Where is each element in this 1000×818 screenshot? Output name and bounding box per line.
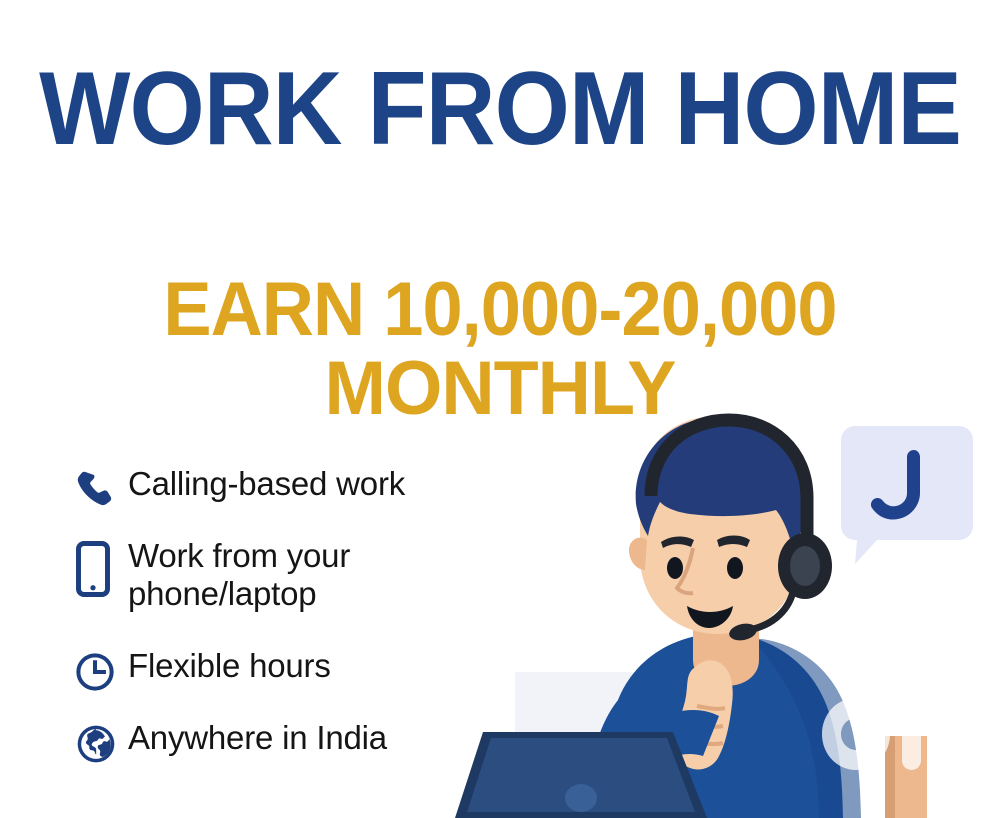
list-item: Calling-based work bbox=[74, 462, 544, 518]
page-title: WORK FROM HOME bbox=[35, 56, 965, 162]
list-item: Work from your phone/laptop bbox=[74, 534, 544, 626]
speech-bubble bbox=[841, 426, 973, 564]
earnings-period: MONTHLY bbox=[15, 348, 985, 430]
list-item-label: Anywhere in India bbox=[128, 716, 387, 757]
olx-watermark bbox=[818, 688, 986, 780]
earnings-block: EARN 10,000-20,000 MONTHLY bbox=[0, 272, 1000, 430]
list-item-label: Calling-based work bbox=[128, 462, 405, 503]
smartphone-icon bbox=[74, 534, 128, 626]
list-item-label: Flexible hours bbox=[128, 644, 331, 685]
list-item: Anywhere in India bbox=[74, 716, 544, 772]
list-item-label: Work from your phone/laptop bbox=[128, 534, 350, 612]
globe-icon bbox=[74, 716, 128, 772]
earnings-amount: EARN 10,000-20,000 bbox=[25, 272, 975, 348]
list-item-label-line1: Work from your bbox=[128, 537, 350, 574]
work-from-home-poster: WORK FROM HOME EARN 10,000-20,000 MONTHL… bbox=[0, 0, 1000, 818]
phone-handset-icon bbox=[74, 462, 128, 518]
feature-list: Calling-based work Work from your phone/… bbox=[74, 462, 544, 788]
list-item-label-line2: phone/laptop bbox=[128, 575, 316, 612]
clock-icon bbox=[74, 644, 128, 700]
list-item: Flexible hours bbox=[74, 644, 544, 700]
